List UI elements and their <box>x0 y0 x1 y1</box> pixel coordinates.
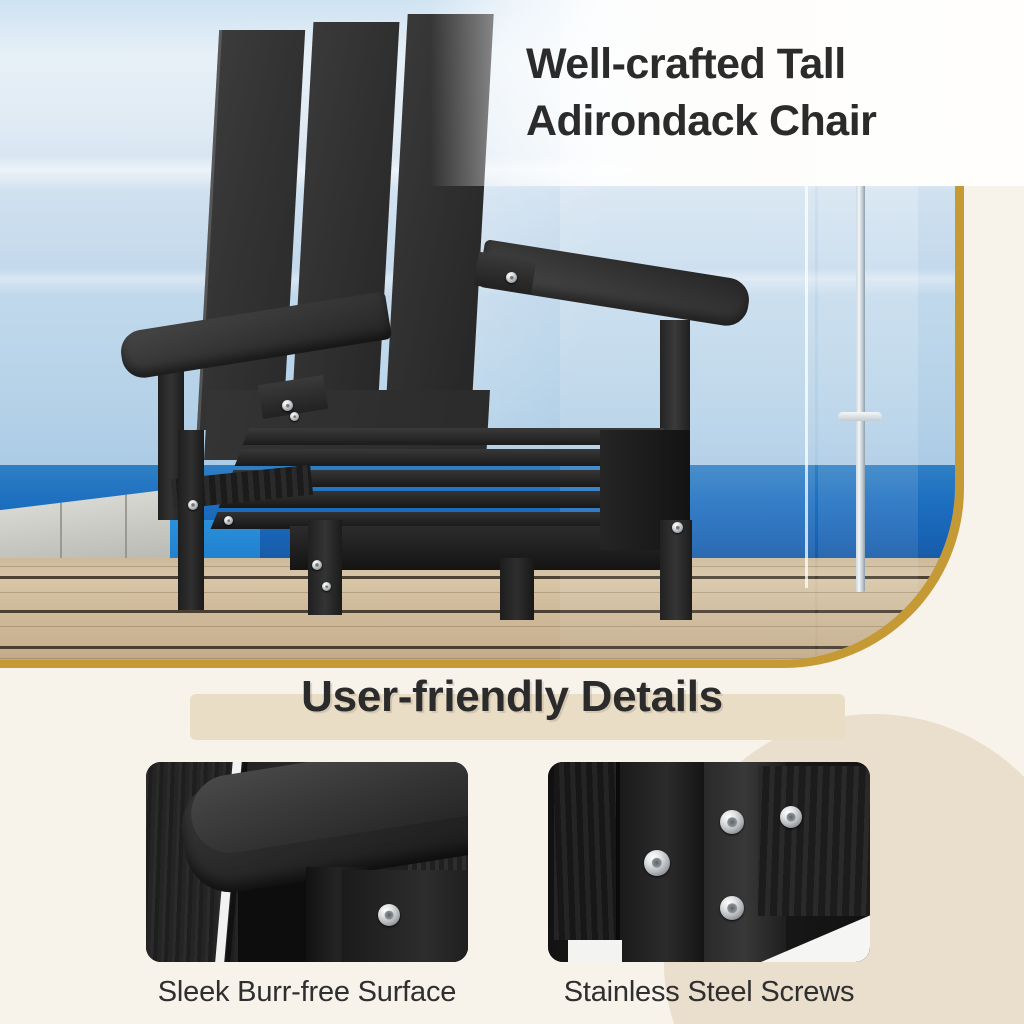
screw-rail-left-1 <box>188 500 198 510</box>
backrest-slat-2 <box>291 22 400 432</box>
screw-leg-left-2 <box>322 582 331 591</box>
screw-detail-2c <box>720 896 744 920</box>
detail-card-1: Sleek Burr-free Surface <box>146 762 468 1009</box>
screw-arm-left <box>282 400 293 411</box>
hero-headline-panel: Well-crafted Tall Adirondack Chair <box>430 0 1024 186</box>
detail-cards: Sleek Burr-free Surface Stainless Steel … <box>0 762 1024 1024</box>
hero-section: Well-crafted Tall Adirondack Chair <box>0 0 1024 670</box>
rear-left-leg <box>500 558 534 620</box>
section-heading: User-friendly Details <box>0 672 1024 750</box>
detail-caption-2: Stainless Steel Screws <box>548 976 870 1009</box>
screw-back-bracket <box>290 412 299 421</box>
screw-rail-left-2 <box>224 516 233 525</box>
headline-line-2: Adirondack Chair <box>526 93 1024 150</box>
screw-detail-2d <box>780 806 802 828</box>
detail-caption-1: Sleek Burr-free Surface <box>146 976 468 1009</box>
screw-detail-1 <box>378 904 400 926</box>
rear-right-leg <box>660 520 692 620</box>
screw-detail-2b <box>720 810 744 834</box>
leg-screws-closeup-image <box>548 762 870 962</box>
screw-leg-right-1 <box>672 522 683 533</box>
armrest-corner-closeup-image <box>146 762 468 962</box>
headline-line-1: Well-crafted Tall <box>526 36 1024 93</box>
backrest-slat-1 <box>197 30 305 430</box>
detail-card-2: Stainless Steel Screws <box>548 762 870 1009</box>
screw-detail-2a <box>644 850 670 876</box>
screw-arm-right <box>506 272 517 283</box>
front-left-leg <box>178 430 204 610</box>
screw-leg-left-1 <box>312 560 322 570</box>
section-title: User-friendly Details <box>0 672 1024 722</box>
product-infographic-page: Well-crafted Tall Adirondack Chair User-… <box>0 0 1024 1024</box>
